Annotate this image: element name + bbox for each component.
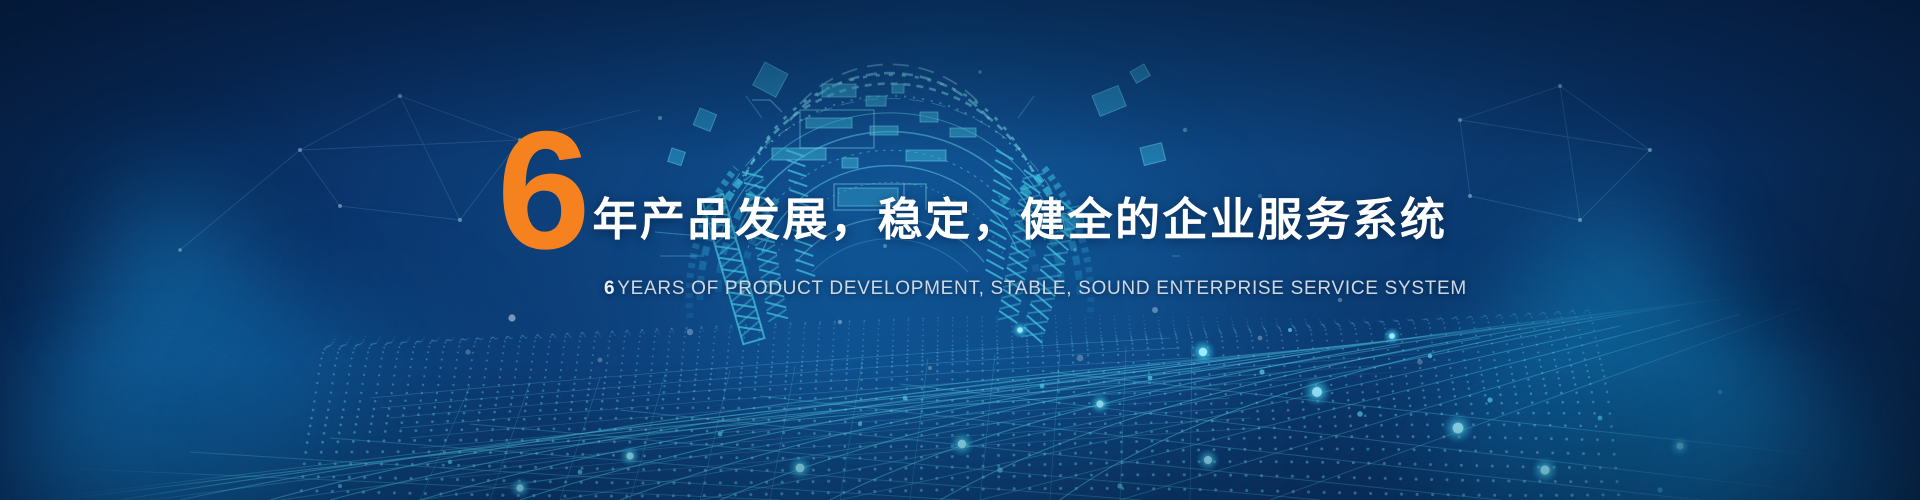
hero-banner: 6 年产品发展，稳定，健全的企业服务系统 6YEARS OF PRODUCT D…	[0, 0, 1920, 500]
background-edge-shade	[0, 0, 1920, 500]
